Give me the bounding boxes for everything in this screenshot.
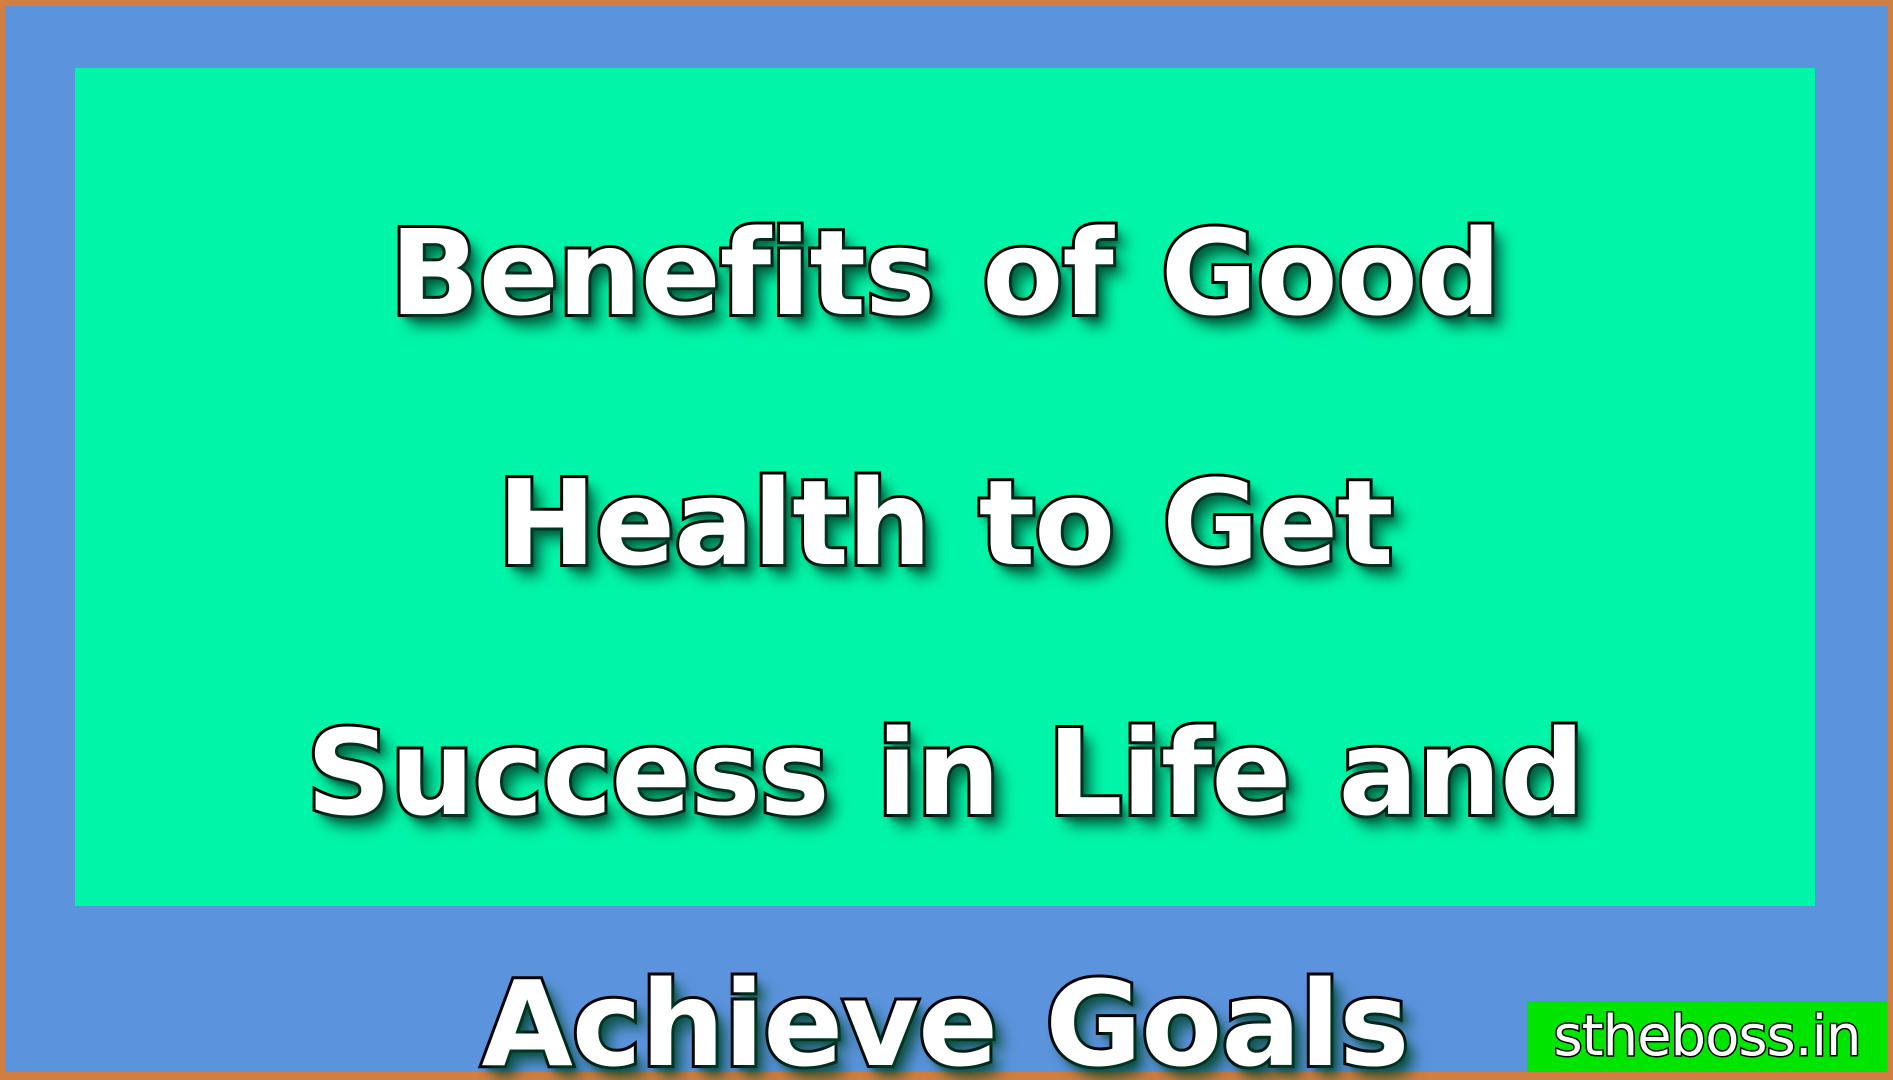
page-title: Benefits of Good Health to Get Success i…	[75, 86, 1815, 1080]
watermark-badge: stheboss.in	[1527, 1001, 1887, 1072]
blue-frame-border: Benefits of Good Health to Get Success i…	[5, 6, 1888, 1072]
headline-line-1: Benefits of Good	[75, 211, 1815, 336]
watermark-label: stheboss.in	[1553, 1009, 1860, 1065]
green-content-panel: Benefits of Good Health to Get Success i…	[75, 68, 1815, 906]
headline-line-2: Health to Get	[75, 461, 1815, 586]
headline-line-3: Success in Life and	[75, 711, 1815, 836]
title-card-canvas: Benefits of Good Health to Get Success i…	[0, 0, 1893, 1080]
